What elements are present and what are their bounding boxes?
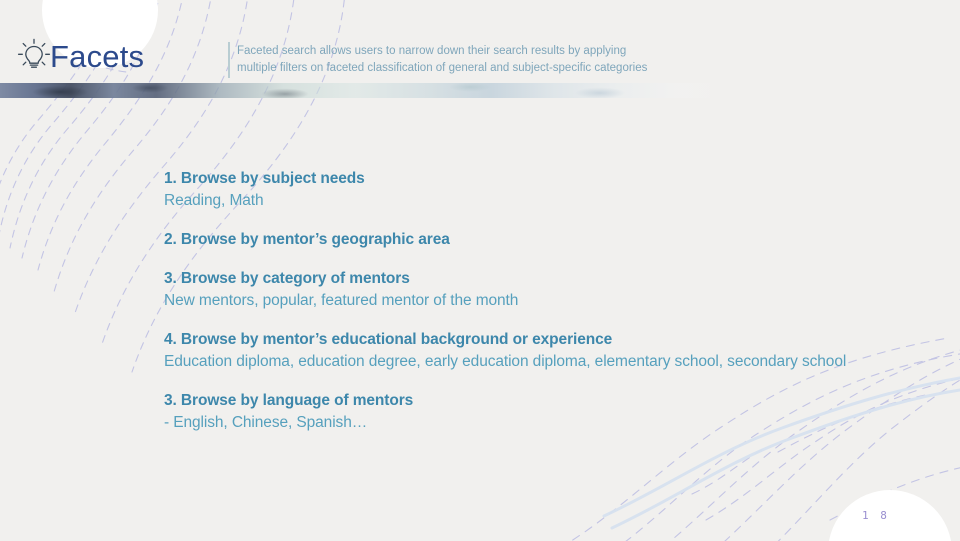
list-item: 3. Browse by category of mentors New men… <box>164 268 864 312</box>
facet-list: 1. Browse by subject needs Reading, Math… <box>164 168 864 434</box>
list-item: 4. Browse by mentor’s educational backgr… <box>164 329 864 373</box>
header-subtitle-line: multiple filters on faceted classificati… <box>237 60 707 77</box>
facet-detail: - English, Chinese, Spanish… <box>164 412 864 434</box>
page-title: Facets <box>50 38 144 76</box>
facet-detail: Reading, Math <box>164 190 864 212</box>
list-item: 3. Browse by language of mentors - Engli… <box>164 390 864 434</box>
bottom-right-decorative-circle <box>828 490 952 541</box>
facet-detail: Education diploma, education degree, ear… <box>164 351 864 373</box>
header-subtitle-line: Faceted search allows users to narrow do… <box>237 43 707 60</box>
facet-heading: 3. Browse by category of mentors <box>164 268 864 290</box>
facet-detail: New mentors, popular, featured mentor of… <box>164 290 864 312</box>
header-subtitle: Faceted search allows users to narrow do… <box>237 43 707 76</box>
facet-heading: 3. Browse by language of mentors <box>164 390 864 412</box>
facet-heading: 1. Browse by subject needs <box>164 168 864 190</box>
facet-heading: 4. Browse by mentor’s educational backgr… <box>164 329 864 351</box>
header-divider <box>228 42 230 78</box>
slide-header: Facets Faceted search allows users to na… <box>0 0 960 83</box>
page-number: 1 8 <box>862 509 889 522</box>
slide-canvas: Facets Faceted search allows users to na… <box>0 0 960 541</box>
list-item: 2. Browse by mentor’s geographic area <box>164 229 864 251</box>
list-item: 1. Browse by subject needs Reading, Math <box>164 168 864 212</box>
watercolor-band <box>0 83 710 98</box>
facet-heading: 2. Browse by mentor’s geographic area <box>164 229 864 251</box>
